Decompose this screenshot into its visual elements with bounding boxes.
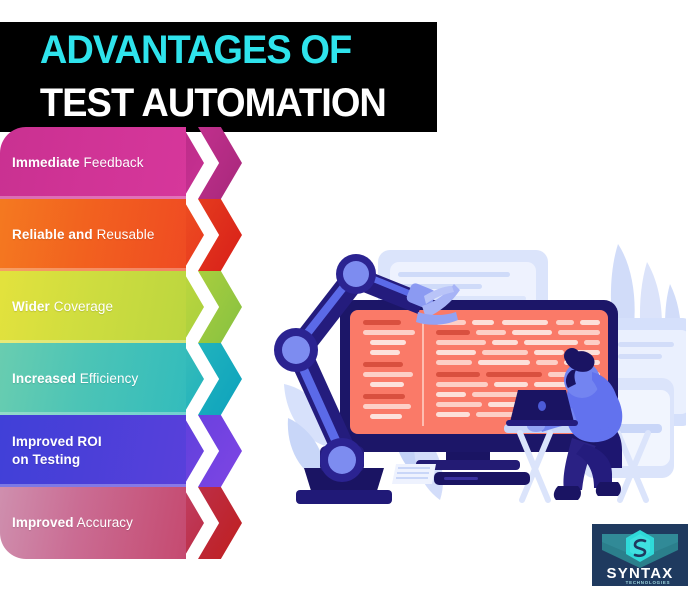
title-line-test-automation: TEST AUTOMATION xyxy=(0,77,437,132)
syntax-technologies-logo[interactable]: SYNTAX TECHNOLOGIES xyxy=(592,524,688,586)
advantage-label-regular: Accuracy xyxy=(74,515,133,530)
chevron-arrow-outer xyxy=(198,343,242,415)
advantage-label-bold: Increased xyxy=(12,371,76,386)
title-line-advantages-of: ADVANTAGES OF xyxy=(0,22,437,77)
test-automation-illustration xyxy=(266,232,686,520)
advantage-label: Immediate Feedback xyxy=(12,154,144,172)
chevron-arrow-outer xyxy=(198,487,242,559)
advantage-label: Improved ROIon Testing xyxy=(12,433,102,469)
list-item[interactable]: Immediate Feedback xyxy=(0,127,262,199)
list-item[interactable]: Wider Coverage xyxy=(0,271,262,343)
list-item[interactable]: Increased Efficiency xyxy=(0,343,262,415)
page-title: ADVANTAGES OF TEST AUTOMATION xyxy=(0,22,460,132)
advantages-list: Immediate Feedback Reliable and Reusable… xyxy=(0,127,262,559)
advantage-label-bold: Wider xyxy=(12,299,50,314)
advantage-label-regular: Feedback xyxy=(80,155,144,170)
band-separator xyxy=(0,268,186,271)
chevron-arrow-outer xyxy=(198,199,242,271)
advantage-label-bold: Improved ROI xyxy=(12,434,102,449)
advantage-label-bold-line2: on Testing xyxy=(12,452,80,467)
chevron-arrow-outer xyxy=(198,415,242,487)
list-item[interactable]: Reliable and Reusable xyxy=(0,199,262,271)
infographic-canvas: ADVANTAGES OF TEST AUTOMATION Immediate … xyxy=(0,0,700,600)
list-item[interactable]: Improved ROIon Testing xyxy=(0,415,262,487)
advantage-label: Wider Coverage xyxy=(12,298,113,316)
logo-tagline: TECHNOLOGIES xyxy=(626,580,671,585)
advantage-label: Improved Accuracy xyxy=(12,514,133,532)
advantage-label: Increased Efficiency xyxy=(12,370,138,388)
advantage-label-bold: Improved xyxy=(12,515,74,530)
chevron-arrow-outer xyxy=(198,127,242,199)
advantage-label-regular: Coverage xyxy=(50,299,113,314)
band-separator xyxy=(0,340,186,343)
advantage-label-bold: Immediate xyxy=(12,155,80,170)
advantage-label: Reliable and Reusable xyxy=(12,226,154,244)
list-item[interactable]: Improved Accuracy xyxy=(0,487,262,559)
advantage-label-bold: Reliable and xyxy=(12,227,93,242)
band-separator xyxy=(0,196,186,199)
chevron-arrow-outer xyxy=(198,271,242,343)
band-separator xyxy=(0,412,186,415)
advantage-label-regular: Reusable xyxy=(93,227,155,242)
advantage-label-regular: Efficiency xyxy=(76,371,138,386)
band-separator xyxy=(0,484,186,487)
